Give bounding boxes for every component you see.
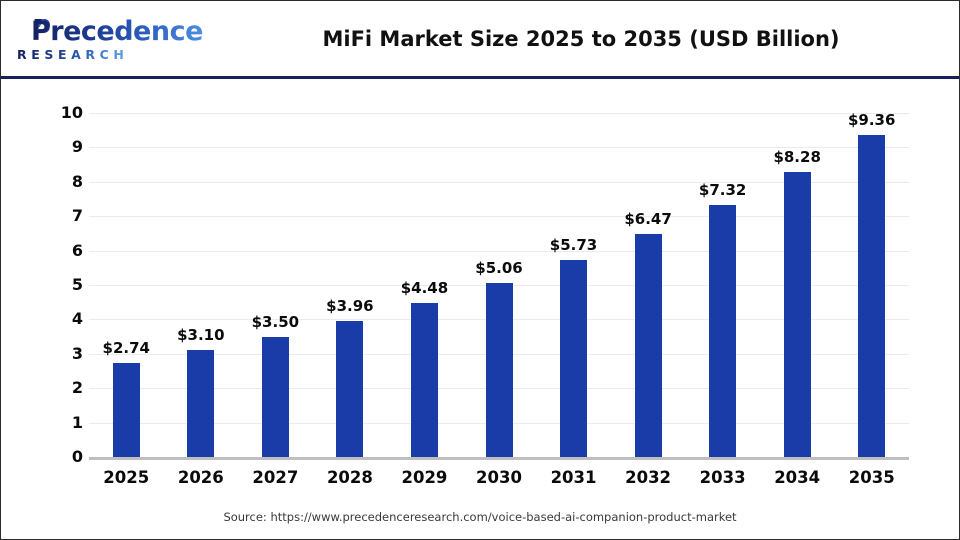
y-axis-tick-label: 1 <box>9 413 83 432</box>
logo-wordmark: Precedence <box>31 17 203 47</box>
bar-value-label: $5.06 <box>454 259 544 277</box>
y-axis-tick: 8 <box>1 172 83 192</box>
bar[interactable] <box>336 321 363 457</box>
precedence-research-logo: Precedence RESEARCH <box>15 17 185 67</box>
y-axis-tick-label: 7 <box>9 206 83 225</box>
bar[interactable] <box>560 260 587 457</box>
y-axis-tick-label: 6 <box>9 241 83 260</box>
y-axis-tick: 10 <box>1 103 83 123</box>
bar[interactable] <box>411 303 438 457</box>
bar-value-label: $3.96 <box>305 297 395 315</box>
y-axis-tick-label: 9 <box>9 137 83 156</box>
bar[interactable] <box>187 350 214 457</box>
y-axis-tick: 5 <box>1 275 83 295</box>
y-axis-tick: 3 <box>1 344 83 364</box>
x-axis-tick-label: 2035 <box>827 468 917 487</box>
chart-plot-area: 012345678910 $2.74$3.10$3.50$3.96$4.48$5… <box>1 82 959 502</box>
bar-value-label: $7.32 <box>678 181 768 199</box>
bar-value-label: $6.47 <box>603 210 693 228</box>
y-axis-tick-label: 8 <box>9 172 83 191</box>
logo-subtitle: RESEARCH <box>17 48 128 62</box>
y-axis-tick-label: 5 <box>9 275 83 294</box>
y-axis-tick-label: 3 <box>9 344 83 363</box>
gridline <box>89 113 909 114</box>
bar[interactable] <box>709 205 736 457</box>
chart-infographic: Precedence RESEARCH MiFi Market Size 202… <box>0 0 960 540</box>
bar[interactable] <box>635 234 662 457</box>
bar-value-label: $3.50 <box>230 313 320 331</box>
y-axis-tick: 2 <box>1 378 83 398</box>
bar-value-label: $8.28 <box>752 148 842 166</box>
y-axis-tick-label: 0 <box>9 447 83 466</box>
bar[interactable] <box>113 363 140 457</box>
bar-value-label: $9.36 <box>827 111 917 129</box>
y-axis-tick-label: 2 <box>9 378 83 397</box>
y-axis-tick: 0 <box>1 447 83 467</box>
y-axis-tick: 4 <box>1 309 83 329</box>
y-axis-tick: 1 <box>1 413 83 433</box>
bar-value-label: $5.73 <box>529 236 619 254</box>
y-axis-tick: 6 <box>1 241 83 261</box>
bar[interactable] <box>486 283 513 457</box>
source-caption: Source: https://www.precedenceresearch.c… <box>1 510 959 524</box>
bar[interactable] <box>262 337 289 457</box>
bar-value-label: $4.48 <box>379 279 469 297</box>
y-axis-tick-label: 10 <box>9 103 83 122</box>
y-axis-tick: 9 <box>1 137 83 157</box>
x-axis-baseline <box>89 457 909 460</box>
y-axis-tick: 7 <box>1 206 83 226</box>
page-title: MiFi Market Size 2025 to 2035 (USD Billi… <box>231 27 931 51</box>
chart-header: Precedence RESEARCH MiFi Market Size 202… <box>1 1 959 79</box>
bar[interactable] <box>858 135 885 457</box>
y-axis-tick-label: 4 <box>9 309 83 328</box>
bar[interactable] <box>784 172 811 457</box>
